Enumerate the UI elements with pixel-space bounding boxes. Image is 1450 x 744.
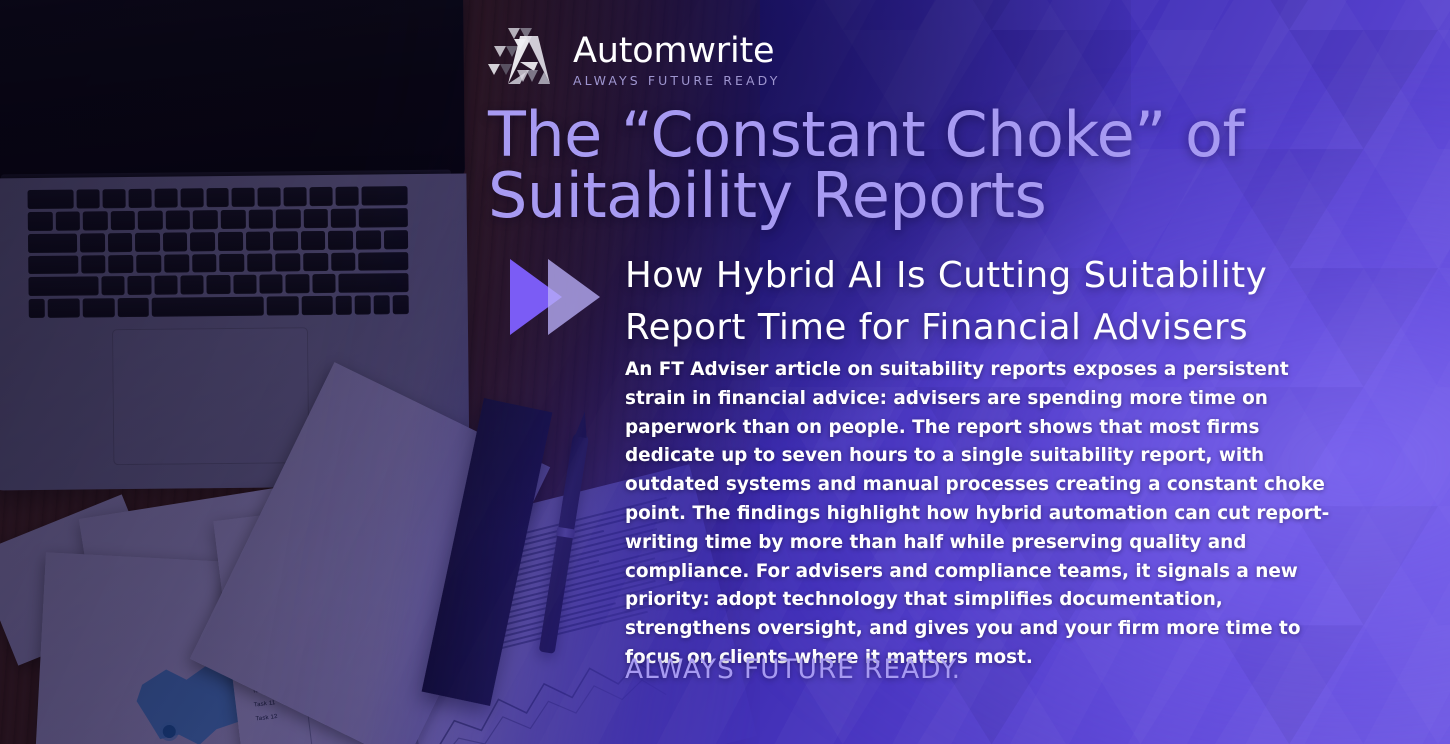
automwrite-triangular-a-logo-icon — [486, 26, 560, 96]
banner-content: Automwrite ALWAYS FUTURE READY The “Cons… — [0, 0, 1450, 744]
closing-tagline: ALWAYS FUTURE READY. — [625, 654, 961, 685]
logo-text-block: Automwrite ALWAYS FUTURE READY — [573, 34, 780, 88]
brand-name: Automwrite — [573, 34, 780, 69]
brand-tagline: ALWAYS FUTURE READY — [573, 75, 780, 88]
fast-forward-icon — [508, 256, 620, 338]
brand-logo[interactable]: Automwrite ALWAYS FUTURE READY — [486, 26, 780, 96]
promo-banner: Sa sh 1/141/211/282/4 Task 1Task 2Task 3… — [0, 0, 1450, 744]
body-paragraph: An FT Adviser article on suitability rep… — [625, 356, 1355, 673]
page-subheading: How Hybrid AI Is Cutting Suitability Rep… — [625, 250, 1365, 354]
page-title: The “Constant Choke” of Suitability Repo… — [488, 104, 1278, 227]
